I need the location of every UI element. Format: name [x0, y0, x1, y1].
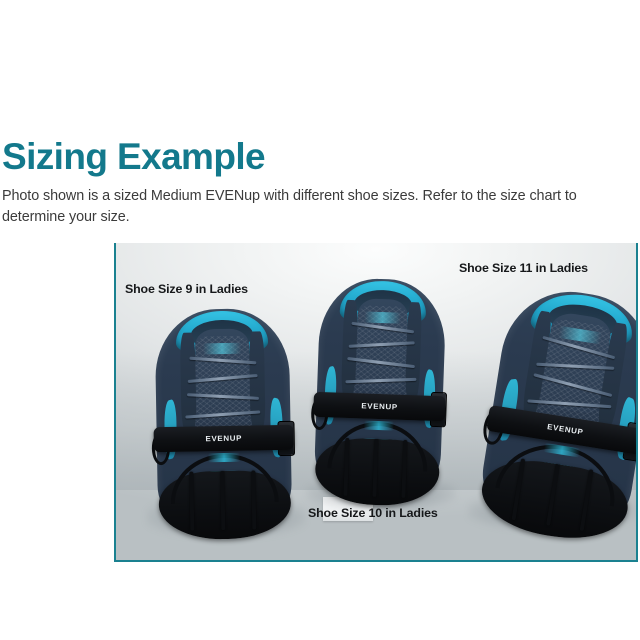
left-shoe-evenup-wordmark: EVENUP: [205, 434, 242, 443]
left-shoe-gel-badge: [208, 453, 240, 463]
right-shoe-evenup-wordmark: EVENUP: [547, 423, 584, 437]
center-shoe-gel-badge: [364, 421, 395, 431]
photo-label-size-10: Shoe Size 10 in Ladies: [308, 506, 438, 520]
intro-paragraph: Photo shown is a sized Medium EVENup wit…: [2, 186, 640, 227]
center-shoe-eyestay-right: [405, 302, 422, 400]
center-shoe-evenup-strap: EVENUP: [314, 392, 446, 421]
left-shoe: EVENUP: [154, 308, 292, 535]
left-shoe-eyestay-right: [249, 331, 265, 430]
page-title: Sizing Example: [2, 138, 265, 177]
photo-label-size-11: Shoe Size 11 in Ladies: [459, 261, 588, 275]
center-shoe-brand-logo: [365, 312, 401, 324]
center-shoe: EVENUP: [313, 277, 447, 503]
photo-label-size-9: Shoe Size 9 in Ladies: [125, 282, 248, 296]
center-shoe-evenup-wordmark: EVENUP: [361, 402, 398, 412]
sizing-example-photo: EVENUP EVENUP: [114, 243, 638, 562]
left-shoe-brand-logo: [203, 342, 241, 354]
left-shoe-evenup-strap: EVENUP: [154, 425, 294, 452]
